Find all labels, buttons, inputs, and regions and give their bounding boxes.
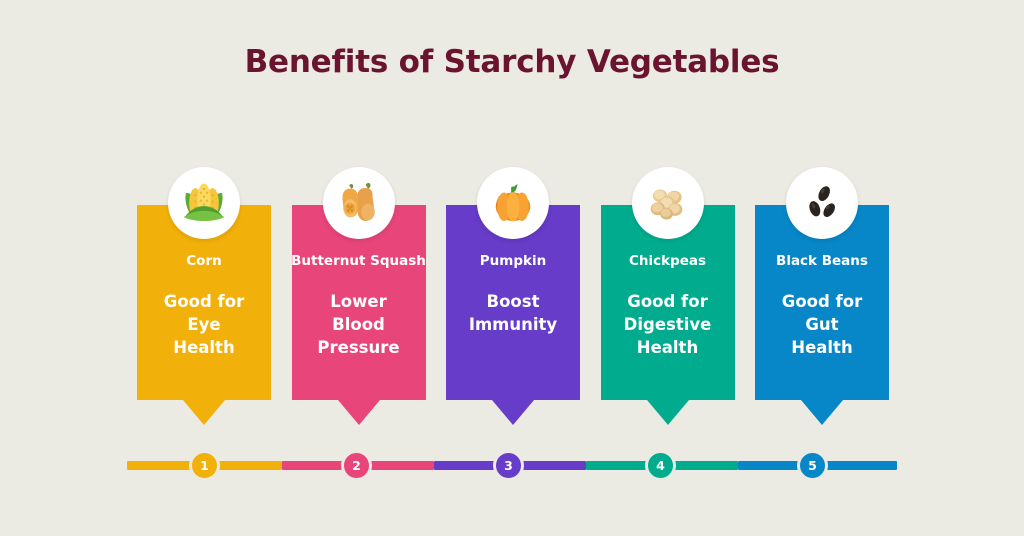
vegetable-name: Black Beans <box>776 253 868 269</box>
card-pointer <box>338 400 380 425</box>
chickpeas-icon <box>632 167 704 239</box>
timeline-step-node[interactable]: 1 <box>189 450 220 481</box>
vegetable-name: Corn <box>186 253 221 269</box>
benefit-line: Good for <box>164 291 244 314</box>
vegetable-benefit: Good forDigestiveHealth <box>624 291 712 359</box>
vegetable-benefit: LowerBloodPressure <box>317 291 399 359</box>
benefit-line: Health <box>782 337 862 360</box>
card-pointer <box>183 400 225 425</box>
infographic-canvas: Benefits of Starchy Vegetables CornGood … <box>0 0 1024 536</box>
benefit-cards-row: CornGood forEyeHealth Butternut SquashLo… <box>137 205 889 430</box>
vegetable-name: Butternut Squash <box>291 253 426 269</box>
benefit-line: Health <box>624 337 712 360</box>
benefit-line: Blood <box>317 314 399 337</box>
black-beans-icon <box>786 167 858 239</box>
card-pointer <box>801 400 843 425</box>
butternut-squash-icon <box>323 167 395 239</box>
benefit-line: Immunity <box>469 314 557 337</box>
vegetable-name: Chickpeas <box>629 253 706 269</box>
timeline-step-node[interactable]: 4 <box>645 450 676 481</box>
benefit-card[interactable]: CornGood forEyeHealth <box>137 205 271 400</box>
vegetable-name: Pumpkin <box>480 253 546 269</box>
benefit-card[interactable]: ChickpeasGood forDigestiveHealth <box>601 205 735 400</box>
benefit-line: Lower <box>317 291 399 314</box>
timeline-step-node[interactable]: 5 <box>797 450 828 481</box>
vegetable-benefit: BoostImmunity <box>469 291 557 337</box>
benefit-line: Good for <box>624 291 712 314</box>
card-pointer <box>647 400 689 425</box>
pumpkin-icon <box>477 167 549 239</box>
benefit-line: Good for <box>782 291 862 314</box>
benefit-line: Boost <box>469 291 557 314</box>
vegetable-benefit: Good forGutHealth <box>782 291 862 359</box>
benefit-line: Digestive <box>624 314 712 337</box>
card-pointer <box>492 400 534 425</box>
benefit-line: Health <box>164 337 244 360</box>
vegetable-benefit: Good forEyeHealth <box>164 291 244 359</box>
benefit-line: Pressure <box>317 337 399 360</box>
corn-icon <box>168 167 240 239</box>
benefit-line: Eye <box>164 314 244 337</box>
page-title: Benefits of Starchy Vegetables <box>0 44 1024 80</box>
benefit-card[interactable]: Black BeansGood forGutHealth <box>755 205 889 400</box>
benefit-line: Gut <box>782 314 862 337</box>
timeline-step-node[interactable]: 3 <box>493 450 524 481</box>
benefit-card[interactable]: Butternut SquashLowerBloodPressure <box>292 205 426 400</box>
benefit-card[interactable]: PumpkinBoostImmunity <box>446 205 580 400</box>
timeline-step-node[interactable]: 2 <box>341 450 372 481</box>
